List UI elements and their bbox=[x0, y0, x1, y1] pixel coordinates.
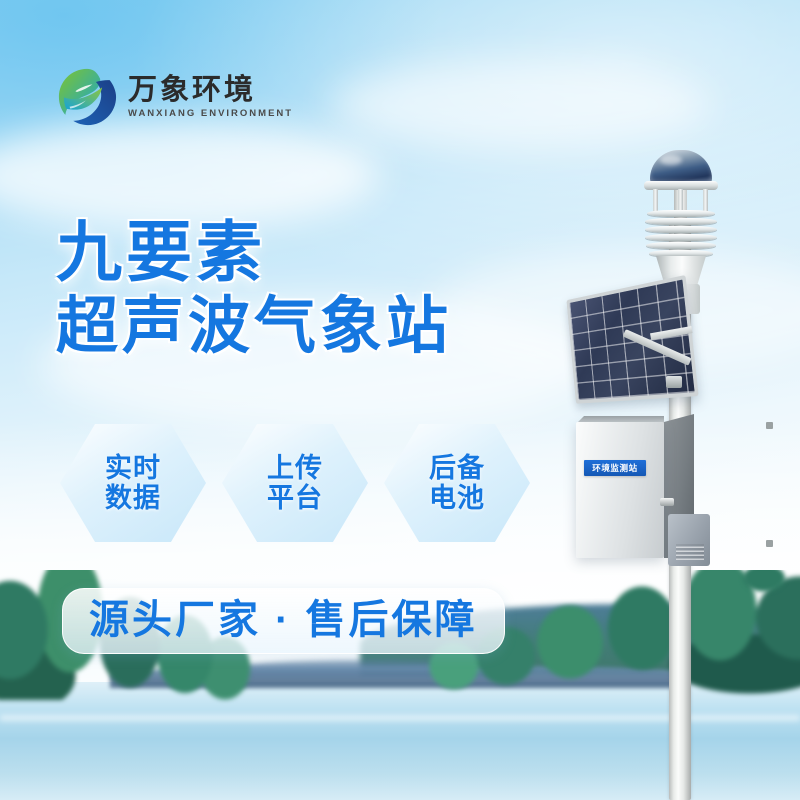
pole-bolt bbox=[766, 540, 773, 547]
pole-bracket bbox=[666, 376, 682, 388]
brand-logo[interactable]: 万象环境 WANXIANG ENVIRONMENT bbox=[56, 66, 293, 128]
guarantee-banner-text: 源头厂家 · 售后保障 bbox=[89, 598, 478, 642]
guarantee-banner: 源头厂家 · 售后保障 bbox=[62, 588, 505, 654]
pole-bolt bbox=[766, 422, 773, 429]
feature-label-line-1: 上传 bbox=[267, 453, 323, 483]
radiation-shield bbox=[645, 210, 717, 258]
feature-label-line-1: 实时 bbox=[105, 453, 161, 483]
headline-line-2: 超声波气象站 bbox=[56, 291, 452, 363]
battery-vent-grille bbox=[676, 544, 704, 560]
promo-banner: 万象环境 WANXIANG ENVIRONMENT 九要素 超声波气象站 实时 … bbox=[0, 0, 800, 800]
brand-name-en: WANXIANG ENVIRONMENT bbox=[128, 108, 293, 119]
feature-label-line-2: 电池 bbox=[429, 483, 485, 513]
feature-label-line-1: 后备 bbox=[429, 453, 485, 483]
control-cabinet: 环境监测站 bbox=[576, 422, 692, 558]
headline-line-1: 九要素 bbox=[56, 214, 452, 291]
brand-name-cn: 万象环境 bbox=[128, 75, 293, 106]
cabinet-nameplate-text: 环境监测站 bbox=[592, 464, 638, 473]
feature-badge-group: 实时 数据 上传 平台 后备 电池 bbox=[60, 424, 530, 542]
product-illustration: 环境监测站 bbox=[500, 140, 800, 800]
cloud-shape bbox=[330, 60, 710, 150]
cabinet-nameplate: 环境监测站 bbox=[584, 460, 646, 476]
globe-swirl-icon bbox=[56, 66, 118, 128]
headline-block: 九要素 超声波气象站 bbox=[56, 214, 452, 362]
ultrasonic-sensor-dome bbox=[650, 150, 712, 184]
feature-badge-upload-platform[interactable]: 上传 平台 bbox=[222, 424, 368, 542]
cabinet-door-latch bbox=[660, 498, 674, 506]
sensor-support-legs bbox=[650, 189, 712, 211]
feature-badge-realtime-data[interactable]: 实时 数据 bbox=[60, 424, 206, 542]
feature-label-line-2: 平台 bbox=[267, 483, 323, 513]
feature-label-line-2: 数据 bbox=[105, 483, 161, 513]
cabinet-front-panel bbox=[576, 422, 664, 558]
